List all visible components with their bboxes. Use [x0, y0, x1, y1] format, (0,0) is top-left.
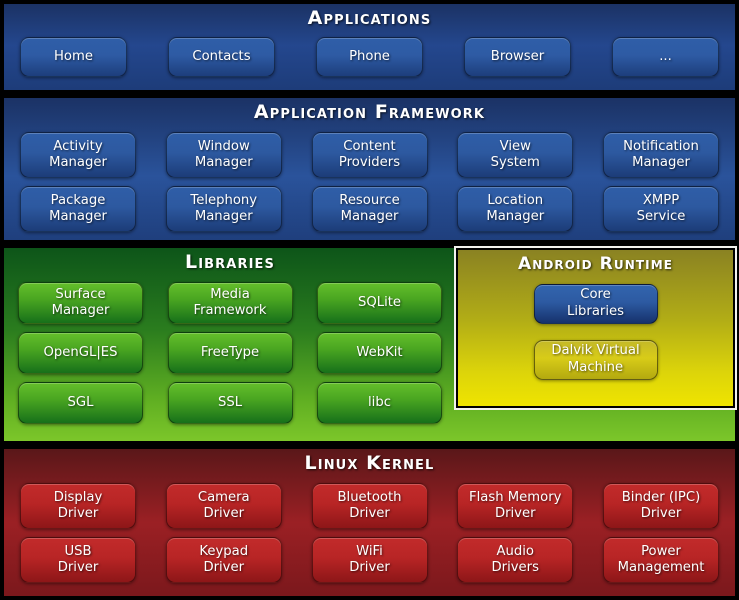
button-row: HomeContactsPhoneBrowser... [4, 37, 735, 77]
layer-title-application-framework: Application Framework [4, 98, 735, 124]
cell-webkit[interactable]: WebKit [317, 332, 442, 374]
cell-sgl[interactable]: SGL [18, 382, 143, 424]
button-row: PackageManagerTelephonyManagerResourceMa… [4, 186, 735, 232]
cell-wifi-driver[interactable]: WiFiDriver [312, 537, 428, 583]
runtime-cell-dalvik-virtual-machine[interactable]: Dalvik VirtualMachine [534, 340, 658, 380]
cell-view-system[interactable]: ViewSystem [457, 132, 573, 178]
cell-usb-driver[interactable]: USBDriver [20, 537, 136, 583]
cell-browser[interactable]: Browser [464, 37, 571, 77]
cell-display-driver[interactable]: DisplayDriver [20, 483, 136, 529]
layer-linux-kernel: Linux Kernel DisplayDriverCameraDriverBl… [2, 447, 737, 598]
cell-phone[interactable]: Phone [316, 37, 423, 77]
cell-libc[interactable]: libc [317, 382, 442, 424]
cell-package-manager[interactable]: PackageManager [20, 186, 136, 232]
cell-freetype[interactable]: FreeType [168, 332, 293, 374]
button-row: SurfaceManagerMediaFrameworkSQLite [4, 282, 456, 324]
button-row: DisplayDriverCameraDriverBluetoothDriver… [4, 483, 735, 529]
cell-activity-manager[interactable]: ActivityManager [20, 132, 136, 178]
cell-media-framework[interactable]: MediaFramework [168, 282, 293, 324]
cell-resource-manager[interactable]: ResourceManager [312, 186, 428, 232]
android-architecture-diagram: Applications HomeContactsPhoneBrowser...… [0, 0, 739, 600]
applications-button-grid: HomeContactsPhoneBrowser... [4, 37, 735, 77]
kernel-button-grid: DisplayDriverCameraDriverBluetoothDriver… [4, 483, 735, 583]
cell-camera-driver[interactable]: CameraDriver [166, 483, 282, 529]
layer-applications: Applications HomeContactsPhoneBrowser... [2, 2, 737, 92]
cell-notification-manager[interactable]: NotificationManager [603, 132, 719, 178]
cell-keypad-driver[interactable]: KeypadDriver [166, 537, 282, 583]
cell-flash-memory-driver[interactable]: Flash MemoryDriver [457, 483, 573, 529]
layer-application-framework: Application Framework ActivityManagerWin… [2, 96, 737, 242]
cell-telephony-manager[interactable]: TelephonyManager [166, 186, 282, 232]
libraries-button-grid: SurfaceManagerMediaFrameworkSQLiteOpenGL… [4, 282, 456, 424]
button-row: OpenGL|ESFreeTypeWebKit [4, 332, 456, 374]
layer-title-libraries: Libraries [4, 248, 456, 274]
cell-home[interactable]: Home [20, 37, 127, 77]
cell-sqlite[interactable]: SQLite [317, 282, 442, 324]
cell-opengl-es[interactable]: OpenGL|ES [18, 332, 143, 374]
cell-contacts[interactable]: Contacts [168, 37, 275, 77]
layer-android-runtime: Android Runtime CoreLibraries Dalvik Vir… [456, 248, 735, 408]
cell-ssl[interactable]: SSL [168, 382, 293, 424]
layer-title-applications: Applications [4, 4, 735, 30]
runtime-cell-core-libraries[interactable]: CoreLibraries [534, 284, 658, 324]
layer-title-android-runtime: Android Runtime [458, 250, 733, 275]
framework-button-grid: ActivityManagerWindowManagerContentProvi… [4, 132, 735, 232]
cell-xmpp-service[interactable]: XMPPService [603, 186, 719, 232]
cell-bluetooth-driver[interactable]: BluetoothDriver [312, 483, 428, 529]
button-row: USBDriverKeypadDriverWiFiDriverAudioDriv… [4, 537, 735, 583]
cell-power-management[interactable]: PowerManagement [603, 537, 719, 583]
cell-audio-drivers[interactable]: AudioDrivers [457, 537, 573, 583]
layer-title-linux-kernel: Linux Kernel [4, 449, 735, 475]
cell-surface-manager[interactable]: SurfaceManager [18, 282, 143, 324]
cell-window-manager[interactable]: WindowManager [166, 132, 282, 178]
button-row: SGLSSLlibc [4, 382, 456, 424]
button-row: ActivityManagerWindowManagerContentProvi… [4, 132, 735, 178]
cell-content-providers[interactable]: ContentProviders [312, 132, 428, 178]
cell-location-manager[interactable]: LocationManager [457, 186, 573, 232]
cell-item[interactable]: ... [612, 37, 719, 77]
cell-binder-ipc-driver[interactable]: Binder (IPC)Driver [603, 483, 719, 529]
